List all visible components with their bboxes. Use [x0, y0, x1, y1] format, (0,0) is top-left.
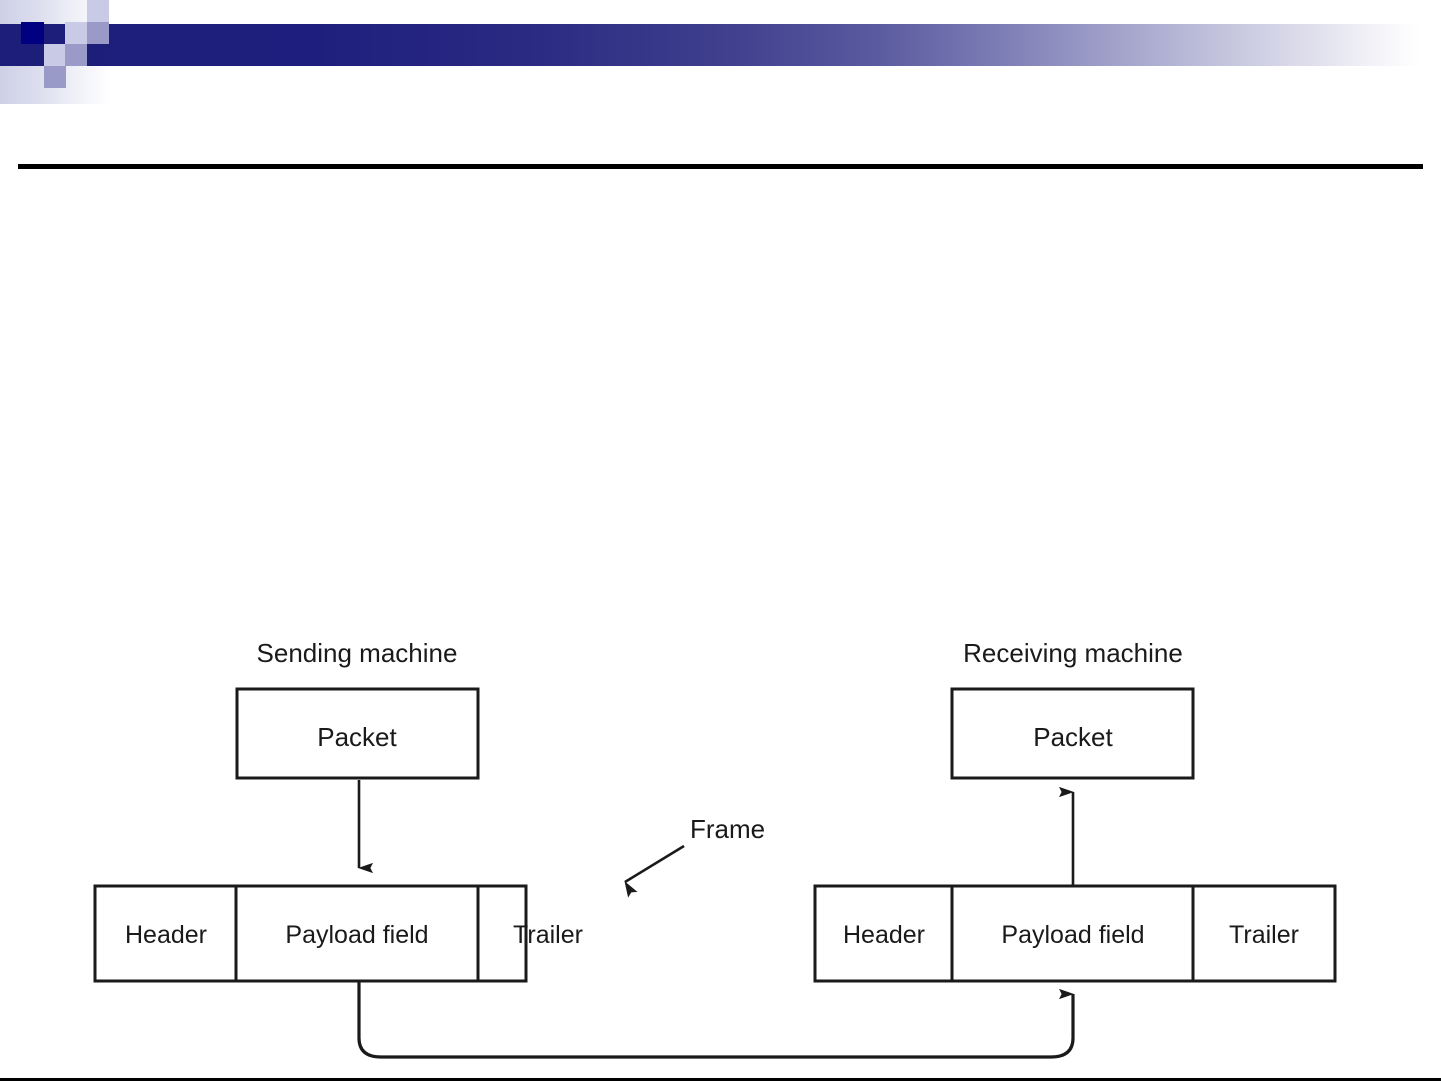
receiving-frame-payload-label: Payload field: [1001, 921, 1144, 949]
header-square-light-1: [87, 0, 109, 22]
receiving-frame-header-label: Header: [843, 921, 925, 949]
sending-frame-payload-label: Payload field: [285, 921, 428, 949]
transmission-path-connector: [359, 981, 1073, 1057]
receiving-packet-label: Packet: [1033, 722, 1113, 752]
slide-title[interactable]: [120, 78, 1320, 154]
receiving-machine-label: Receiving machine: [963, 638, 1183, 668]
header-square-light-2: [65, 22, 87, 44]
header-gradient-band: [0, 24, 1420, 66]
frame-callout-label: Frame: [690, 814, 765, 844]
header-square-navy: [21, 22, 44, 44]
sending-machine-label: Sending machine: [257, 638, 458, 668]
receiving-frame-trailer-label: Trailer: [1229, 921, 1299, 949]
presentation-slide: Sending machine Packet Header Payload fi…: [0, 0, 1441, 1081]
framing-diagram: Sending machine Packet Header Payload fi…: [0, 600, 1441, 1081]
sending-packet-label: Packet: [317, 722, 397, 752]
header-square-light-3: [44, 44, 66, 66]
header-square-mid-2: [65, 44, 87, 66]
frame-callout-arrow: [625, 846, 684, 882]
title-underline-rule: [18, 164, 1423, 169]
sending-frame-header-label: Header: [125, 921, 207, 949]
header-square-mid-1: [87, 22, 109, 44]
header-square-deep: [87, 44, 109, 66]
sending-frame-trailer-label: Trailer: [513, 921, 583, 949]
header-square-mid-3: [44, 66, 66, 88]
